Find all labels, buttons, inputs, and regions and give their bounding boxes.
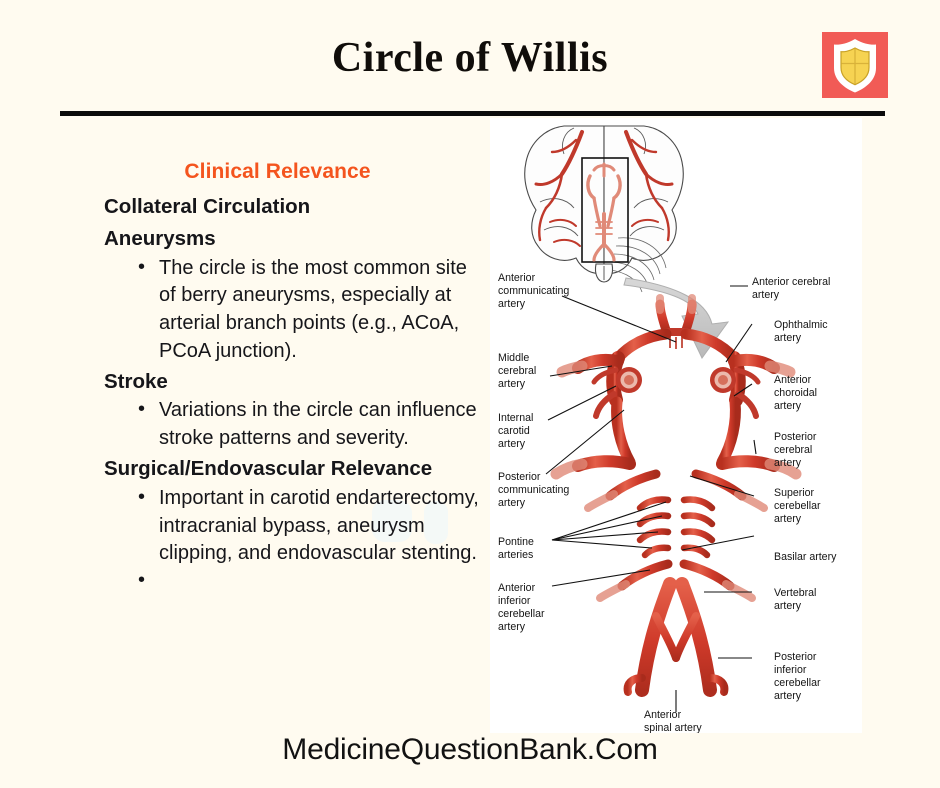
svg-text:Anterior cerebral: Anterior cerebral <box>752 276 830 288</box>
svg-text:artery: artery <box>774 400 802 412</box>
svg-text:artery: artery <box>774 600 802 612</box>
page-title: Circle of Willis <box>0 34 940 82</box>
bullet-list-aneurysms: The circle is the most common site of be… <box>104 255 479 366</box>
list-item <box>138 568 479 595</box>
header-divider <box>60 111 885 116</box>
svg-text:Middle: Middle <box>498 352 529 364</box>
svg-text:Vertebral: Vertebral <box>774 587 816 599</box>
svg-text:Anterior: Anterior <box>498 582 536 594</box>
footer-site-name: MedicineQuestionBank.Com <box>0 733 940 767</box>
heading-aneurysms: Aneurysms <box>104 223 479 255</box>
svg-text:artery: artery <box>774 332 802 344</box>
svg-text:Posterior: Posterior <box>774 431 817 443</box>
bullet-list-surgical: Important in carotid endarterectomy, int… <box>104 485 479 595</box>
svg-text:cerebellar: cerebellar <box>774 500 821 512</box>
svg-text:artery: artery <box>498 378 526 390</box>
svg-text:choroidal: choroidal <box>774 387 817 399</box>
section-title: Clinical Relevance <box>104 160 479 184</box>
svg-text:Ophthalmic: Ophthalmic <box>774 319 828 331</box>
svg-text:Posterior: Posterior <box>498 471 541 483</box>
svg-text:artery: artery <box>774 513 802 525</box>
shield-icon <box>822 32 888 98</box>
heading-surgical-endovascular-relevance: Surgical/Endovascular Relevance <box>104 453 479 485</box>
svg-text:carotid: carotid <box>498 425 530 437</box>
circle-of-willis-diagram: Anterior communicating artery Middle cer… <box>490 118 862 733</box>
heading-stroke: Stroke <box>104 366 479 398</box>
svg-text:arteries: arteries <box>498 549 533 561</box>
svg-text:Anterior: Anterior <box>644 709 682 721</box>
svg-text:Anterior: Anterior <box>774 374 812 386</box>
page-header: Circle of Willis <box>0 0 940 113</box>
svg-text:cerebral: cerebral <box>498 365 536 377</box>
svg-text:cerebellar: cerebellar <box>498 608 545 620</box>
svg-text:artery: artery <box>498 497 526 509</box>
bullet-list-stroke: Variations in the circle can influence s… <box>104 397 479 453</box>
svg-text:Posterior: Posterior <box>774 651 817 663</box>
svg-text:communicating: communicating <box>498 484 569 496</box>
diagram-svg: Anterior communicating artery Middle cer… <box>490 118 862 733</box>
heading-collateral-circulation: Collateral Circulation <box>104 191 479 223</box>
brand-logo <box>822 32 888 98</box>
svg-text:cerebral: cerebral <box>774 444 812 456</box>
svg-text:artery: artery <box>498 621 526 633</box>
svg-text:spinal artery: spinal artery <box>644 722 702 733</box>
list-item: Important in carotid endarterectomy, int… <box>138 485 479 568</box>
svg-text:communicating: communicating <box>498 285 569 297</box>
svg-text:Pontine: Pontine <box>498 536 534 548</box>
list-item: The circle is the most common site of be… <box>138 255 479 366</box>
label-pontine-arteries: Pontine arteries <box>498 536 534 561</box>
svg-text:artery: artery <box>498 298 526 310</box>
label-basilar-artery: Basilar artery <box>774 551 837 563</box>
svg-text:inferior: inferior <box>774 664 807 676</box>
svg-text:artery: artery <box>752 289 780 301</box>
svg-text:artery: artery <box>774 457 802 469</box>
svg-text:Anterior: Anterior <box>498 272 536 284</box>
svg-text:artery: artery <box>498 438 526 450</box>
svg-text:artery: artery <box>774 690 802 702</box>
svg-text:Basilar artery: Basilar artery <box>774 551 837 563</box>
svg-text:Internal: Internal <box>498 412 533 424</box>
svg-text:cerebellar: cerebellar <box>774 677 821 689</box>
svg-text:Superior: Superior <box>774 487 815 499</box>
clinical-relevance-panel: Clinical Relevance Collateral Circulatio… <box>104 160 479 595</box>
svg-text:inferior: inferior <box>498 595 531 607</box>
list-item: Variations in the circle can influence s… <box>138 397 479 453</box>
